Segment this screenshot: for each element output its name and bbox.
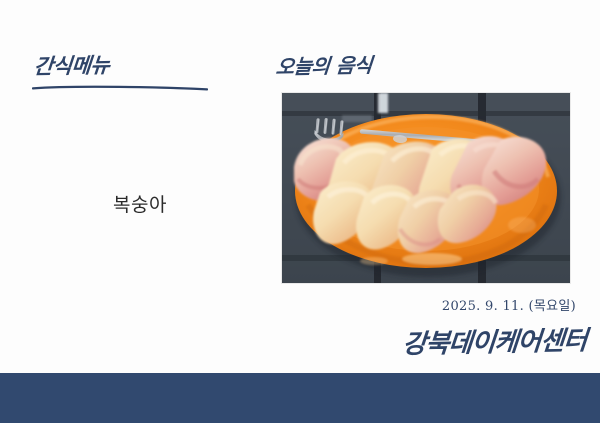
center-name-signature: 강북데이케어센터 [401, 320, 588, 361]
date-text: 2025. 9. 11. (목요일) [442, 295, 576, 314]
food-photo [282, 93, 570, 283]
footer-bar [0, 373, 600, 423]
snack-menu-heading: 간식메뉴 [33, 49, 111, 81]
heading-underline-stroke [32, 78, 208, 83]
menu-item-name: 복숭아 [0, 190, 280, 217]
today-food-heading: 오늘의 음식 [275, 49, 374, 80]
snack-menu-card: 간식메뉴 오늘의 음식 복숭아 [0, 0, 600, 423]
